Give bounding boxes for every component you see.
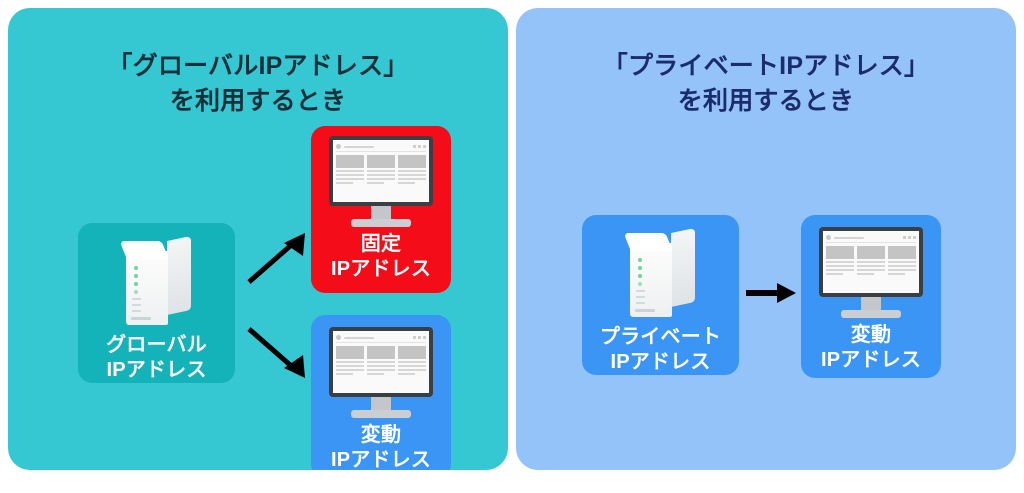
desktop-monitor-icon [325, 327, 437, 421]
ip-address-comparison-diagram: 「グローバルIPアドレス」 を利用するとき グローバル IPアドレス [0, 0, 1024, 493]
dynamic-ip-card-left-label: 変動 IPアドレス [331, 423, 431, 470]
router-icon [618, 225, 704, 321]
arrow-down-right-icon [243, 323, 311, 381]
dynamic-ip-card-right-label: 変動 IPアドレス [821, 323, 921, 373]
router-icon [114, 233, 200, 329]
arrow-up-right-icon [243, 230, 311, 288]
private-ip-source-card-label: プライベート IPアドレス [600, 325, 721, 375]
global-ip-panel-title: 「グローバルIPアドレス」 を利用するとき [8, 49, 508, 119]
dynamic-ip-card-right[interactable]: 変動 IPアドレス [801, 215, 941, 378]
private-ip-panel: 「プライベートIPアドレス」 を利用するとき プライベート IPアドレス [516, 8, 1016, 470]
global-ip-source-card-label: グローバル IPアドレス [106, 333, 207, 383]
global-ip-source-card[interactable]: グローバル IPアドレス [78, 223, 235, 383]
private-ip-panel-title: 「プライベートIPアドレス」 を利用するとき [516, 49, 1016, 119]
desktop-monitor-icon [815, 227, 927, 321]
global-ip-panel: 「グローバルIPアドレス」 を利用するとき グローバル IPアドレス [8, 8, 508, 470]
private-ip-source-card[interactable]: プライベート IPアドレス [582, 215, 739, 375]
fixed-ip-card[interactable]: 固定 IPアドレス [311, 126, 451, 293]
desktop-monitor-icon [325, 136, 437, 230]
arrow-right-icon [744, 276, 804, 310]
dynamic-ip-card-left[interactable]: 変動 IPアドレス [311, 315, 451, 470]
fixed-ip-card-label: 固定 IPアドレス [331, 232, 431, 282]
